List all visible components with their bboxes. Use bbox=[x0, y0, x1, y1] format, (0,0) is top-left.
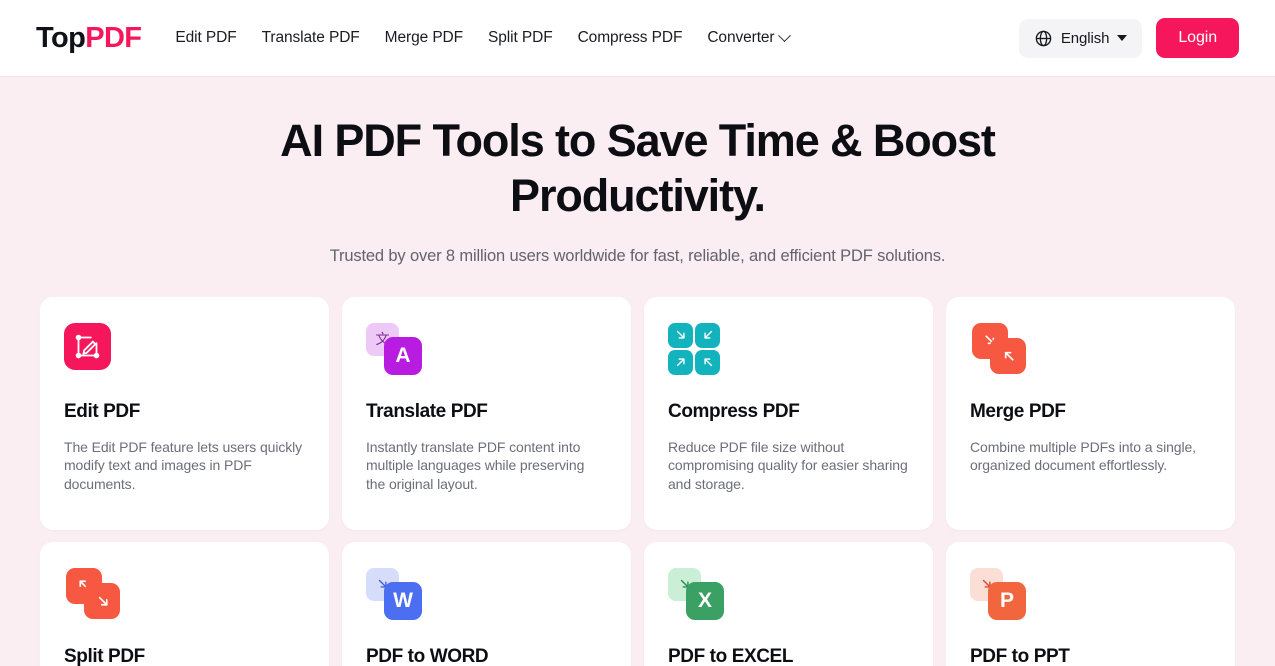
merge-arrows-icon bbox=[970, 323, 1034, 375]
language-selector[interactable]: English bbox=[1019, 19, 1143, 58]
nav-item-split-pdf[interactable]: Split PDF bbox=[488, 29, 553, 47]
login-button[interactable]: Login bbox=[1156, 18, 1239, 58]
card-title: PDF to WORD bbox=[366, 646, 607, 666]
tool-card-split-pdf[interactable]: Split PDF bbox=[40, 542, 329, 666]
tool-card-pdf-to-excel[interactable]: X PDF to EXCEL bbox=[644, 542, 933, 666]
letter-glyph: X bbox=[698, 590, 712, 611]
tool-card-translate-pdf[interactable]: 文 A Translate PDF Instantly translate PD… bbox=[342, 297, 631, 530]
nav-item-edit-pdf[interactable]: Edit PDF bbox=[175, 29, 236, 47]
nav-label: Translate PDF bbox=[262, 29, 360, 47]
word-doc-icon: W bbox=[366, 568, 430, 620]
card-title: Edit PDF bbox=[64, 401, 305, 423]
nav-item-compress-pdf[interactable]: Compress PDF bbox=[578, 29, 683, 47]
chevron-down-icon bbox=[1117, 35, 1127, 41]
card-title: PDF to PPT bbox=[970, 646, 1211, 666]
nav-label: Converter bbox=[707, 29, 774, 47]
letter-glyph: A bbox=[395, 345, 410, 366]
site-header: TopPDF Edit PDF Translate PDF Merge PDF … bbox=[0, 0, 1275, 77]
hero-subtitle: Trusted by over 8 million users worldwid… bbox=[0, 247, 1275, 266]
tool-card-pdf-to-word[interactable]: W PDF to WORD bbox=[342, 542, 631, 666]
excel-sheet-icon: X bbox=[668, 568, 732, 620]
card-title: Translate PDF bbox=[366, 401, 607, 423]
nav-item-translate-pdf[interactable]: Translate PDF bbox=[262, 29, 360, 47]
card-description: The Edit PDF feature lets users quickly … bbox=[64, 438, 305, 494]
edit-pencil-icon bbox=[64, 323, 128, 375]
language-label: English bbox=[1061, 30, 1110, 47]
tool-card-compress-pdf[interactable]: Compress PDF Reduce PDF file size withou… bbox=[644, 297, 933, 530]
logo-text-top: Top bbox=[36, 22, 85, 54]
hero-section: AI PDF Tools to Save Time & Boost Produc… bbox=[0, 77, 1275, 266]
split-arrows-icon bbox=[64, 568, 128, 620]
tool-card-grid: Edit PDF The Edit PDF feature lets users… bbox=[40, 297, 1235, 666]
card-title: Merge PDF bbox=[970, 401, 1211, 423]
nav-item-merge-pdf[interactable]: Merge PDF bbox=[385, 29, 463, 47]
card-description: Instantly translate PDF content into mul… bbox=[366, 438, 607, 494]
card-description: Reduce PDF file size without compromisin… bbox=[668, 438, 909, 494]
card-title: Split PDF bbox=[64, 646, 305, 666]
page-title: AI PDF Tools to Save Time & Boost Produc… bbox=[258, 113, 1018, 224]
card-description: Combine multiple PDFs into a single, org… bbox=[970, 438, 1211, 475]
tool-card-pdf-to-ppt[interactable]: P PDF to PPT bbox=[946, 542, 1235, 666]
header-actions: English Login bbox=[1019, 18, 1239, 58]
nav-label: Merge PDF bbox=[385, 29, 463, 47]
card-title: PDF to EXCEL bbox=[668, 646, 909, 666]
nav-item-converter[interactable]: Converter bbox=[707, 29, 789, 47]
globe-icon bbox=[1034, 29, 1053, 48]
tool-card-edit-pdf[interactable]: Edit PDF The Edit PDF feature lets users… bbox=[40, 297, 329, 530]
main-navigation: Edit PDF Translate PDF Merge PDF Split P… bbox=[175, 29, 789, 47]
translate-icon: 文 A bbox=[366, 323, 430, 375]
nav-label: Edit PDF bbox=[175, 29, 236, 47]
powerpoint-slide-icon: P bbox=[970, 568, 1034, 620]
letter-glyph: P bbox=[1000, 590, 1014, 611]
nav-label: Compress PDF bbox=[578, 29, 683, 47]
chevron-down-icon bbox=[779, 29, 792, 42]
nav-label: Split PDF bbox=[488, 29, 553, 47]
card-title: Compress PDF bbox=[668, 401, 909, 423]
compress-arrows-icon bbox=[668, 323, 732, 375]
logo-text-pdf: PDF bbox=[85, 22, 141, 54]
letter-glyph: W bbox=[393, 590, 413, 611]
logo-toppdf[interactable]: TopPDF bbox=[36, 24, 141, 53]
tool-card-merge-pdf[interactable]: Merge PDF Combine multiple PDFs into a s… bbox=[946, 297, 1235, 530]
